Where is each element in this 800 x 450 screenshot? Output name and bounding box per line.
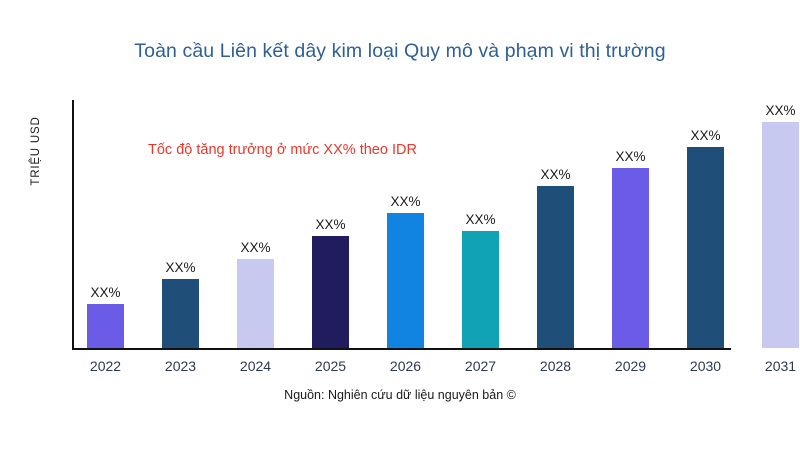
bar-value-label: XX% — [443, 212, 518, 227]
bar-value-label: XX% — [593, 149, 668, 164]
x-axis-tick-label: 2029 — [593, 358, 668, 374]
bar-value-label: XX% — [518, 167, 593, 182]
x-axis-line — [72, 348, 731, 350]
bar-value-label: XX% — [368, 194, 443, 209]
x-axis-tick-label: 2028 — [518, 358, 593, 374]
x-axis-tick-label: 2022 — [68, 358, 143, 374]
bar[interactable] — [687, 147, 724, 348]
bar-value-label: XX% — [68, 285, 143, 300]
y-axis-line — [72, 100, 74, 349]
x-axis-tick-label: 2025 — [293, 358, 368, 374]
bar[interactable] — [462, 231, 499, 348]
bar[interactable] — [537, 186, 574, 348]
bar[interactable] — [387, 213, 424, 348]
source-note: Nguồn: Nghiên cứu dữ liệu nguyên bản © — [0, 388, 800, 402]
bar[interactable] — [237, 259, 274, 348]
x-axis-tick-label: 2023 — [143, 358, 218, 374]
bar[interactable] — [87, 304, 124, 348]
bar-value-label: XX% — [743, 103, 800, 118]
bar[interactable] — [762, 122, 799, 348]
bar-value-label: XX% — [668, 128, 743, 143]
growth-rate-annotation: Tốc độ tăng trưởng ở mức XX% theo IDR — [148, 142, 417, 158]
bar-value-label: XX% — [293, 217, 368, 232]
x-axis-tick-label: 2030 — [668, 358, 743, 374]
x-axis-tick-label: 2024 — [218, 358, 293, 374]
bar[interactable] — [312, 236, 349, 348]
x-axis-tick-label: 2027 — [443, 358, 518, 374]
bar-value-label: XX% — [143, 260, 218, 275]
bar-chart: Toàn cầu Liên kết dây kim loại Quy mô và… — [0, 0, 800, 450]
x-axis-tick-label: 2026 — [368, 358, 443, 374]
x-axis-tick-label: 2031 — [743, 358, 800, 374]
bar[interactable] — [162, 279, 199, 348]
bar-value-label: XX% — [218, 240, 293, 255]
bar[interactable] — [612, 168, 649, 348]
plot-area: XX%2022XX%2023XX%2024XX%2025XX%2026XX%20… — [0, 0, 800, 450]
